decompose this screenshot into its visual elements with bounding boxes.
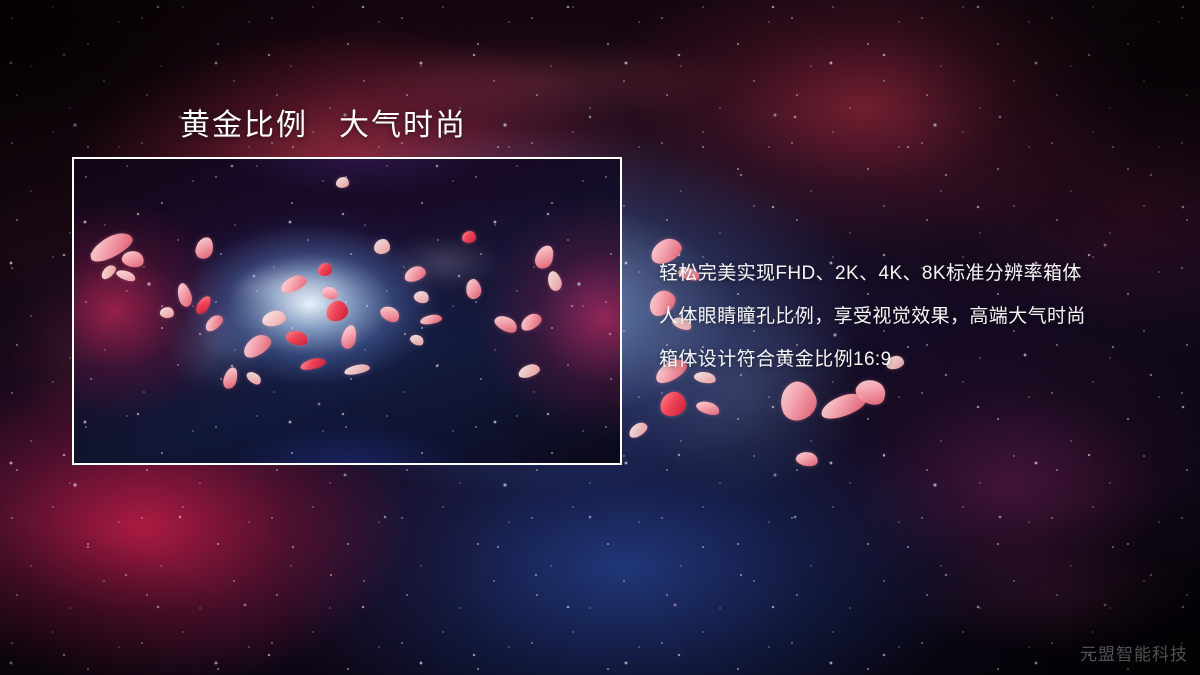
rose-petal xyxy=(795,450,819,468)
watermark: 元盟智能科技 xyxy=(1080,640,1188,665)
rose-petal xyxy=(194,235,215,260)
photo-panel-frame xyxy=(72,157,622,465)
rose-petal xyxy=(194,294,214,317)
rose-petal xyxy=(120,248,145,269)
rose-petal xyxy=(402,264,427,284)
rose-petal xyxy=(518,311,544,334)
rose-petal xyxy=(408,332,425,347)
photo-panel-image xyxy=(74,159,620,463)
rose-petal xyxy=(115,268,137,284)
rose-petal xyxy=(86,228,136,266)
rose-petal xyxy=(378,303,402,326)
rose-petal xyxy=(284,328,309,348)
rose-petal xyxy=(343,363,370,376)
rose-petal xyxy=(202,312,225,333)
rose-petal xyxy=(419,314,442,326)
rose-petal xyxy=(412,289,430,305)
body-copy-block: 轻松完美实现FHD、2K、4K、8K标准分辨率箱体 人体眼睛瞳孔比例，享受视觉效… xyxy=(659,252,1159,381)
rose-petal xyxy=(774,377,822,426)
rose-petal xyxy=(324,299,350,324)
rose-petal xyxy=(533,243,557,271)
rose-petal xyxy=(374,239,390,254)
rose-petal xyxy=(492,312,520,336)
rose-petal xyxy=(320,284,340,302)
rose-petal xyxy=(245,369,264,387)
rose-petal xyxy=(278,272,308,295)
rose-petal xyxy=(318,263,332,276)
rose-petal xyxy=(464,278,483,301)
page-title: 黄金比例 大气时尚 xyxy=(180,100,467,144)
rose-petal xyxy=(240,331,275,362)
rose-petal xyxy=(462,231,476,243)
body-copy-line: 轻松完美实现FHD、2K、4K、8K标准分辨率箱体 xyxy=(659,252,1159,295)
body-copy-line: 人体眼睛瞳孔比例，享受视觉效果，高端大气时尚 xyxy=(659,295,1159,338)
rose-petal xyxy=(222,366,240,390)
rose-petal xyxy=(658,390,688,418)
rose-petal xyxy=(695,398,722,417)
rose-petal xyxy=(340,324,358,350)
body-copy-line: 箱体设计符合黄金比例16:9 xyxy=(659,338,1159,381)
rose-petal xyxy=(545,269,564,292)
rose-petal xyxy=(818,389,868,422)
slide-canvas: 黄金比例 大气时尚 轻松完美实现FHD、2K、4K、8K标准分辨率箱体 人体眼睛… xyxy=(0,0,1200,675)
rose-petal xyxy=(336,177,349,188)
rose-petal xyxy=(99,263,118,282)
rose-petal xyxy=(299,356,327,371)
rose-petal xyxy=(626,420,649,440)
panel-petal-group xyxy=(74,159,620,463)
rose-petal xyxy=(261,309,287,327)
rose-petal xyxy=(175,282,195,309)
rose-petal xyxy=(159,306,174,319)
rose-petal xyxy=(517,362,541,380)
